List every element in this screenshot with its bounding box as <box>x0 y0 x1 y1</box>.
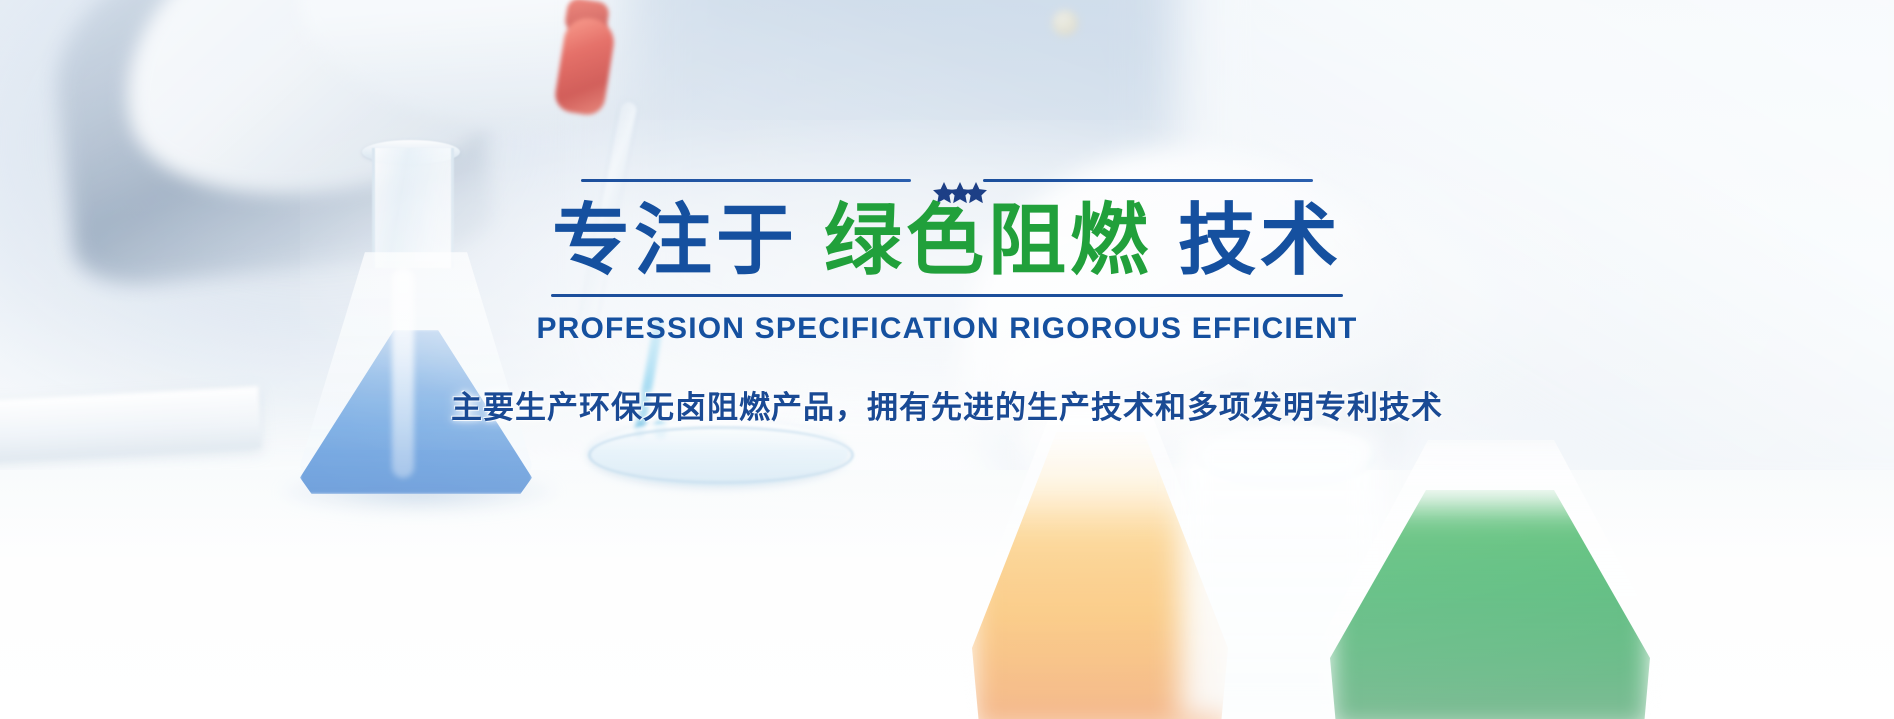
tagline-chinese: 主要生产环保无卤阻燃产品，拥有先进的生产技术和多项发明专利技术 <box>0 382 1894 427</box>
headline-part-3: 技术 <box>1178 196 1342 284</box>
decorative-divider <box>0 170 1894 190</box>
lab-coat-button-icon <box>1052 10 1078 36</box>
headline-part-1: 专注于 <box>552 196 798 284</box>
hero-banner: 专注于绿色阻燃技术 PROFESSION SPECIFICATION RIGOR… <box>0 0 1894 719</box>
subtitle-english: PROFESSION SPECIFICATION RIGOROUS EFFICI… <box>0 312 1894 346</box>
divider-line-left <box>581 179 911 182</box>
page-title: 专注于绿色阻燃技术 <box>0 200 1894 282</box>
headline-underline <box>551 294 1343 297</box>
headline-highlight: 绿色阻燃 <box>824 196 1152 284</box>
banner-content: 专注于绿色阻燃技术 PROFESSION SPECIFICATION RIGOR… <box>0 170 1894 427</box>
petri-dish-rim <box>588 426 854 484</box>
divider-line-right <box>983 179 1313 182</box>
